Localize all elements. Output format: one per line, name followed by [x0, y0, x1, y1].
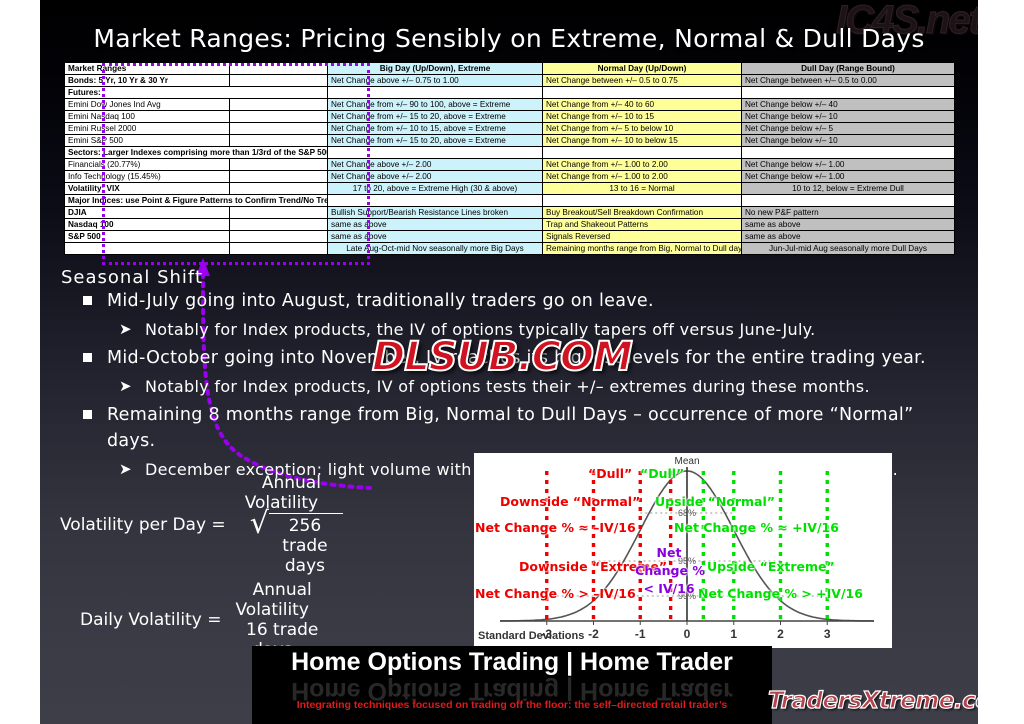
arrow-bullet-icon: ➤ — [119, 374, 132, 399]
section-spacer — [742, 87, 955, 99]
table-row: Emini Dow Jones Ind Avg Net Change from … — [65, 99, 955, 111]
row-blank — [230, 99, 328, 111]
bullet-text: Remaining 8 months range from Big, Norma… — [107, 405, 913, 451]
cell-big-day: 17 to 20, above = Extreme High (30 & abo… — [328, 183, 543, 195]
cell-normal-day: Net Change from +/– 10 to below 15 — [543, 135, 742, 147]
cell-big-day: Net Change above +/– 2.00 — [328, 159, 543, 171]
formula-volatility-per-day: Volatility per Day = Annual Volatility √… — [60, 473, 333, 576]
column-header: Normal Day (Up/Down) — [543, 63, 742, 75]
square-bullet-icon — [83, 296, 92, 305]
annotation-change-pct: Change % — [624, 563, 716, 578]
cell-normal-day: Net Change between +/– 0.5 to 0.75 — [543, 75, 742, 87]
table-section-row: Major Indices: use Point & Figure Patter… — [65, 195, 955, 207]
cell-normal-day: Buy Breakout/Sell Breakdown Confirmation — [543, 207, 742, 219]
row-label: DJIA — [65, 207, 230, 219]
section-spacer — [543, 147, 742, 159]
seasonal-shift-heading: Seasonal Shift — [61, 267, 203, 288]
annotation-dull-left: “Dull” — [588, 466, 632, 481]
section-spacer — [328, 195, 543, 207]
annotation-upside-normal: Upside “Normal” — [655, 494, 775, 509]
row-blank — [230, 75, 328, 87]
annotation-upside-extreme: Upside “Extreme” — [707, 559, 835, 574]
cell-big-day: Net Change from +/– 10 to 15, above = Ex… — [328, 123, 543, 135]
bullet-text: Mid-July going into August, traditionall… — [107, 291, 654, 311]
row-label: Emini Russel 2000 — [65, 123, 230, 135]
table-section-row: Futures: — [65, 87, 955, 99]
annotation-downside-normal: Downside “Normal” — [500, 494, 640, 509]
x-tick-label: 3 — [824, 627, 831, 641]
x-tick-label: 2 — [777, 627, 784, 641]
bullet-item: Mid-July going into August, traditionall… — [61, 288, 961, 314]
row-blank — [230, 135, 328, 147]
row-label: Financials (20.77%) — [65, 159, 230, 171]
column-header: Market Ranges — [65, 63, 230, 75]
section-spacer — [543, 195, 742, 207]
section-spacer — [328, 147, 543, 159]
table-row: Info Technology (15.45%) Net Change abov… — [65, 171, 955, 183]
row-blank — [230, 183, 328, 195]
cell-dull-day: No new P&F pattern — [742, 207, 955, 219]
cell-big-day: Bullish Support/Bearish Resistance Lines… — [328, 207, 543, 219]
row-label: Nasdaq 100 — [65, 219, 230, 231]
row-label: Emini S&P 500 — [65, 135, 230, 147]
footer-tagline: Integrating techniques focused on tradin… — [252, 699, 772, 711]
annotation-iv16: < IV/16 — [634, 581, 704, 596]
row-blank — [230, 171, 328, 183]
cell-big-day: Late Aug-Oct-mid Nov seasonally more Big… — [328, 243, 543, 255]
annotation-downside-normal-value: Net Change % ≈ –IV/16 — [475, 520, 636, 535]
table-row: Nasdaq 100 same as aboveTrap and Shakeou… — [65, 219, 955, 231]
cell-dull-day: Net Change below +/– 1.00 — [742, 159, 955, 171]
row-label — [65, 243, 230, 255]
cell-normal-day: Trap and Shakeout Patterns — [543, 219, 742, 231]
cell-normal-day: Net Change from +/– 10 to 15 — [543, 111, 742, 123]
table-row: Emini Nasdaq 100 Net Change from +/– 15 … — [65, 111, 955, 123]
table-row: Bonds: 5 Yr, 10 Yr & 30 Yr Net Change ab… — [65, 75, 955, 87]
bullet-item: Remaining 8 months range from Big, Norma… — [61, 402, 961, 454]
x-axis-label: Standard Deviations — [478, 630, 584, 642]
row-blank — [230, 243, 328, 255]
section-label: Sectors: Larger Indexes comprising more … — [65, 147, 328, 159]
formula-denominator-text: 256 trade days — [269, 513, 343, 576]
cell-normal-day: Net Change from +/– 1.00 to 2.00 — [543, 159, 742, 171]
table-row: DJIA Bullish Support/Bearish Resistance … — [65, 207, 955, 219]
cell-normal-day: Net Change from +/– 40 to 60 — [543, 99, 742, 111]
section-label: Futures: — [65, 87, 328, 99]
cell-big-day: Net Change from +/– 90 to 100, above = E… — [328, 99, 543, 111]
cell-big-day: same as above — [328, 219, 543, 231]
cell-normal-day: Signals Reversed — [543, 231, 742, 243]
cell-big-day: Net Change above +/– 0.75 to 1.00 — [328, 75, 543, 87]
table-row: Financials (20.77%) Net Change above +/–… — [65, 159, 955, 171]
formula-label: Daily Volatility = — [80, 610, 221, 630]
section-spacer — [543, 87, 742, 99]
cell-big-day: same as above — [328, 231, 543, 243]
watermark-center: DLSUB.COM — [372, 334, 632, 380]
tradersxtreme-logo: TradersXtreme.com — [768, 688, 978, 714]
square-bullet-icon — [83, 353, 92, 362]
cell-big-day: Net Change above +/– 2.00 — [328, 171, 543, 183]
row-blank — [230, 159, 328, 171]
cell-big-day: Net Change from +/– 15 to 20, above = Ex… — [328, 111, 543, 123]
row-blank — [230, 219, 328, 231]
cell-dull-day: Net Change below +/– 10 — [742, 111, 955, 123]
formula-denominator: √ 256 trade days — [240, 515, 353, 538]
square-bullet-icon — [83, 410, 92, 419]
cell-normal-day: Remaining months range from Big, Normal … — [543, 243, 742, 255]
radical-icon: √ — [250, 513, 269, 576]
annotation-upside-normal-value: Net Change % ≈ +IV/16 — [674, 520, 839, 535]
row-label: Emini Dow Jones Ind Avg — [65, 99, 230, 111]
table-row: Volatility: VIX 17 to 20, above = Extrem… — [65, 183, 955, 195]
table-row: Emini Russel 2000 Net Change from +/– 10… — [65, 123, 955, 135]
market-ranges-table: Market RangesBig Day (Up/Down), ExtremeN… — [64, 62, 955, 255]
x-tick-label: 1 — [730, 627, 737, 641]
market-ranges-table-wrap: Market RangesBig Day (Up/Down), ExtremeN… — [64, 62, 954, 255]
formula-numerator: Annual Volatility — [235, 580, 318, 622]
footer-banner: Home Options Trading | Home Trader Home … — [252, 646, 772, 724]
section-spacer — [742, 147, 955, 159]
annotation-upside-extreme-value: Net Change % > +IV/16 — [698, 586, 863, 601]
formula-fraction: Annual Volatility √ 256 trade days — [240, 473, 333, 576]
row-label: Volatility: VIX — [65, 183, 230, 195]
cell-dull-day: Net Change below +/– 40 — [742, 99, 955, 111]
cell-dull-day: same as above — [742, 219, 955, 231]
table-footer-row: Late Aug-Oct-mid Nov seasonally more Big… — [65, 243, 955, 255]
column-header — [230, 63, 328, 75]
row-blank — [230, 207, 328, 219]
row-label: Info Technology (15.45%) — [65, 171, 230, 183]
cell-big-day: Net Change from +/– 15 to 20, above = Ex… — [328, 135, 543, 147]
annotation-net: Net — [634, 545, 704, 560]
section-spacer — [742, 195, 955, 207]
annotation-downside-extreme-value: Net Change % > –IV/16 — [475, 586, 636, 601]
row-blank — [230, 111, 328, 123]
x-tick-label: -1 — [635, 627, 646, 641]
cell-dull-day: Net Change below +/– 1.00 — [742, 171, 955, 183]
x-tick-label: 0 — [684, 627, 691, 641]
row-label: S&P 500 — [65, 231, 230, 243]
arrow-bullet-icon: ➤ — [119, 317, 132, 342]
cell-normal-day: 13 to 16 = Normal — [543, 183, 742, 195]
normal-distribution-chart: -3-2-10123 68%95%99% Standard Deviations… — [474, 453, 892, 648]
cell-normal-day: Net Change from +/– 5 to below 10 — [543, 123, 742, 135]
formula-label: Volatility per Day = — [60, 515, 226, 535]
page-title: Market Ranges: Pricing Sensibly on Extre… — [40, 24, 978, 53]
row-blank — [230, 231, 328, 243]
x-tick-label: -2 — [588, 627, 599, 641]
section-spacer — [328, 87, 543, 99]
annotation-dull-right: “Dull” — [640, 466, 684, 481]
section-label: Major Indices: use Point & Figure Patter… — [65, 195, 328, 207]
cell-dull-day: same as above — [742, 231, 955, 243]
slide-canvas: IC4S.net Market Ranges: Pricing Sensibly… — [40, 0, 978, 724]
cell-dull-day: Net Change between +/– 0.5 to 0.00 — [742, 75, 955, 87]
band-label: 68% — [678, 508, 696, 518]
cell-dull-day: Jun-Jul-mid Aug seasonally more Dull Day… — [742, 243, 955, 255]
column-header: Big Day (Up/Down), Extreme — [328, 63, 543, 75]
column-header: Dull Day (Range Bound) — [742, 63, 955, 75]
table-section-row: Sectors: Larger Indexes comprising more … — [65, 147, 955, 159]
table-body: Market RangesBig Day (Up/Down), ExtremeN… — [65, 63, 955, 255]
row-label: Bonds: 5 Yr, 10 Yr & 30 Yr — [65, 75, 230, 87]
cell-normal-day: Net Change from +/– 1.00 to 2.00 — [543, 171, 742, 183]
table-row: Emini S&P 500 Net Change from +/– 15 to … — [65, 135, 955, 147]
table-header-row: Market RangesBig Day (Up/Down), ExtremeN… — [65, 63, 955, 75]
row-label: Emini Nasdaq 100 — [65, 111, 230, 123]
cell-dull-day: 10 to 12, below = Extreme Dull — [742, 183, 955, 195]
row-blank — [230, 123, 328, 135]
cell-dull-day: Net Change below +/– 10 — [742, 135, 955, 147]
table-row: S&P 500 same as aboveSignals Reversedsam… — [65, 231, 955, 243]
footer-banner-title: Home Options Trading | Home Trader — [252, 648, 772, 677]
cell-dull-day: Net Change below +/– 5 — [742, 123, 955, 135]
